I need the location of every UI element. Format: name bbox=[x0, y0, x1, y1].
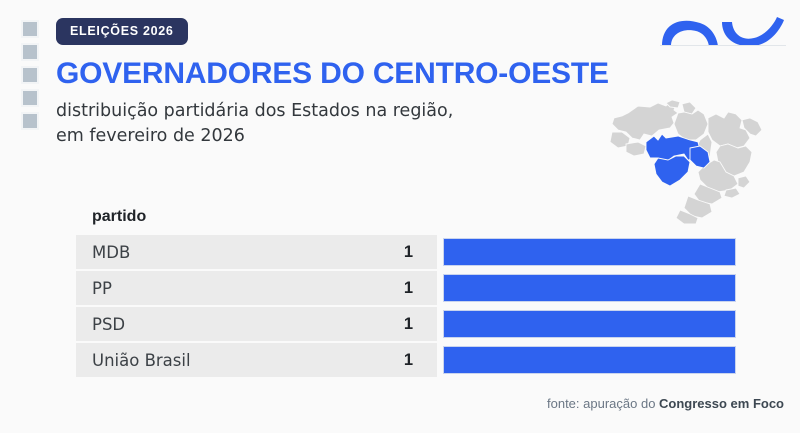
page-subtitle-line-1: distribuição partidária dos Estados na r… bbox=[56, 99, 656, 124]
decorative-square bbox=[21, 112, 39, 130]
decorative-square-column bbox=[21, 20, 39, 130]
party-count: 1 bbox=[404, 279, 413, 298]
bar bbox=[443, 238, 736, 266]
table-row[interactable]: PP 1 bbox=[76, 271, 736, 305]
source-prefix: fonte: apuração do bbox=[547, 396, 659, 411]
decorative-square bbox=[21, 43, 39, 61]
table-row[interactable]: PSD 1 bbox=[76, 307, 736, 341]
wave-logo-icon bbox=[660, 0, 786, 46]
row-label-cell: MDB 1 bbox=[76, 235, 437, 269]
row-label-cell: PSD 1 bbox=[76, 307, 437, 341]
bar bbox=[443, 274, 736, 302]
brand-logo bbox=[660, 0, 786, 46]
decorative-square bbox=[21, 66, 39, 84]
bar-track bbox=[437, 343, 736, 377]
party-name: MDB bbox=[92, 243, 130, 262]
party-distribution-chart: partido MDB 1 PP 1 PSD 1 bbox=[76, 206, 736, 377]
bar-track bbox=[437, 235, 736, 269]
page-subtitle: distribuição partidária dos Estados na r… bbox=[56, 99, 656, 149]
row-label-cell: PP 1 bbox=[76, 271, 437, 305]
party-count: 1 bbox=[404, 243, 413, 262]
decorative-square bbox=[21, 20, 39, 38]
row-label-cell: União Brasil 1 bbox=[76, 343, 437, 377]
source-name: Congresso em Foco bbox=[659, 396, 784, 411]
header-block: ELEIÇÕES 2026 GOVERNADORES DO CENTRO-OES… bbox=[56, 18, 656, 149]
logo-divider bbox=[660, 45, 786, 46]
bar bbox=[443, 346, 736, 374]
table-row[interactable]: União Brasil 1 bbox=[76, 343, 736, 377]
party-name: PSD bbox=[92, 315, 125, 334]
party-name: PP bbox=[92, 279, 112, 298]
page-title: GOVERNADORES DO CENTRO-OESTE bbox=[56, 57, 656, 91]
bar-track bbox=[437, 307, 736, 341]
column-header-partido: partido bbox=[76, 206, 736, 235]
bar-track bbox=[437, 271, 736, 305]
status-badge: ELEIÇÕES 2026 bbox=[56, 18, 188, 45]
table-row[interactable]: MDB 1 bbox=[76, 235, 736, 269]
party-count: 1 bbox=[404, 351, 413, 370]
decorative-square bbox=[21, 89, 39, 107]
page-subtitle-line-2: em fevereiro de 2026 bbox=[56, 124, 656, 149]
bar bbox=[443, 310, 736, 338]
source-note: fonte: apuração do Congresso em Foco bbox=[547, 396, 784, 411]
party-count: 1 bbox=[404, 315, 413, 334]
party-name: União Brasil bbox=[92, 351, 191, 370]
chart-rows: MDB 1 PP 1 PSD 1 bbox=[76, 235, 736, 377]
